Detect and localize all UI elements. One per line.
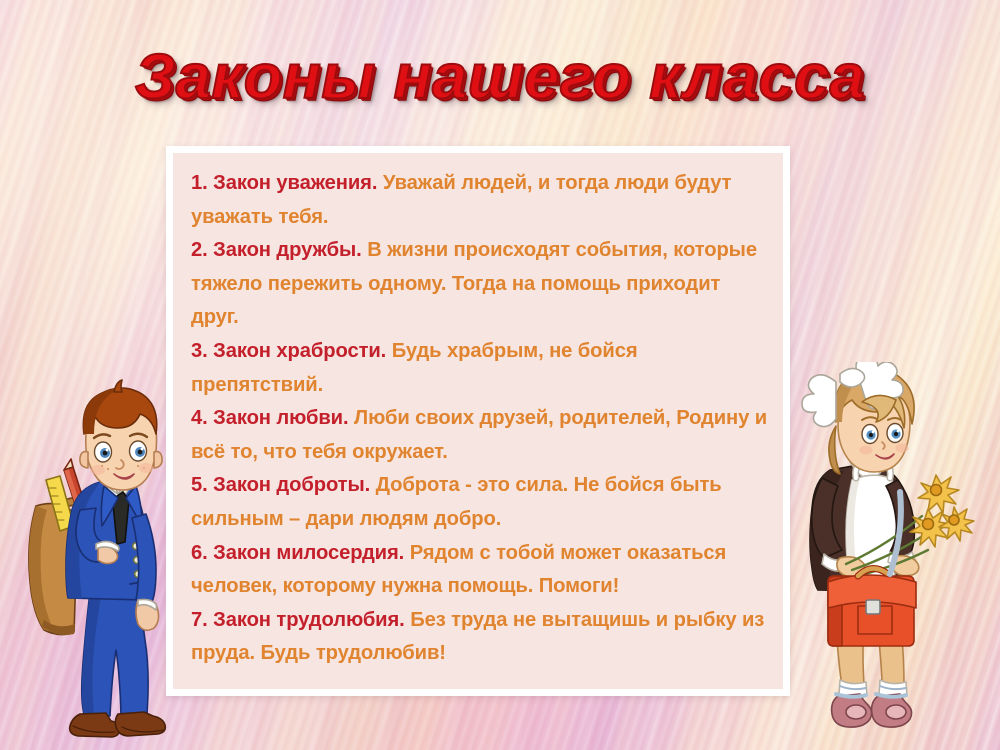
girl-head xyxy=(802,362,914,474)
law-heading: Закон трудолюбия. xyxy=(213,609,405,631)
page-title: Законы нашего класса xyxy=(0,44,1000,110)
law-item: 7. Закон трудолюбия. Без труда не вытащи… xyxy=(191,604,769,671)
law-heading: Закон милосердия. xyxy=(213,542,404,564)
girl-shoes xyxy=(832,694,912,727)
law-item: 2. Закон дружбы. В жизни происходят собы… xyxy=(191,234,769,335)
slide-root: Законы нашего класса 1. Закон уважения. … xyxy=(0,0,1000,750)
law-item: 6. Закон милосердия. Рядом с тобой может… xyxy=(191,537,769,604)
law-item: 5. Закон доброты. Доброта - это сила. Не… xyxy=(191,469,769,536)
law-item: 4. Закон любви. Люби своих друзей, родит… xyxy=(191,402,769,469)
laws-panel: 1. Закон уважения. Уважай людей, и тогда… xyxy=(166,146,790,696)
law-heading: Закон уважения. xyxy=(213,172,377,194)
law-number: 2. xyxy=(191,239,208,261)
law-heading: Закон храбрости. xyxy=(213,340,386,362)
law-number: 1. xyxy=(191,172,208,194)
schoolgirl-illustration xyxy=(778,362,988,734)
law-item: 1. Закон уважения. Уважай людей, и тогда… xyxy=(191,167,769,234)
law-number: 3. xyxy=(191,340,208,362)
boy-head xyxy=(80,380,162,490)
boy-shoes xyxy=(70,712,166,737)
law-heading: Закон любви. xyxy=(213,407,348,429)
schoolboy-illustration xyxy=(18,378,208,738)
law-heading: Закон доброты. xyxy=(213,474,370,496)
laws-panel-inner: 1. Закон уважения. Уважай людей, и тогда… xyxy=(173,153,783,689)
law-heading: Закон дружбы. xyxy=(213,239,362,261)
law-item: 3. Закон храбрости. Будь храбрым, не бой… xyxy=(191,335,769,402)
